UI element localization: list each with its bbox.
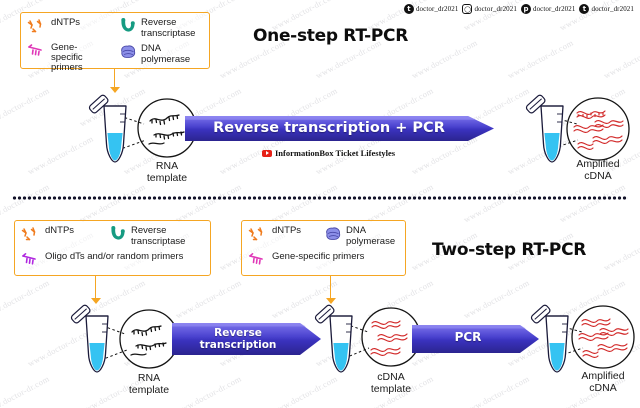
arrow-label-reverse-transcription: Reverse transcription [172, 327, 322, 351]
caption-line2: template [147, 172, 187, 184]
social-handle-label: doctor_dr2021 [474, 5, 517, 13]
watermark-text: www.doctor-dr.com [270, 181, 339, 224]
legend-label-dna-polymerase: DNA polymerase [346, 226, 395, 247]
legend-label-reverse-transcriptase: Reverse transcriptase [141, 18, 195, 39]
arrow-reverse-transcription: Reverse transcription [172, 320, 322, 358]
tube-cdna-template [312, 302, 366, 381]
legend-label-dna-polymerase: DNA polymerase [141, 44, 190, 65]
caption-rna-template-bottom: RNA template [113, 372, 185, 396]
gsp-line3: primers [51, 62, 83, 73]
arrow-label-pcr: PCR [412, 330, 540, 344]
social-handles-bar: t doctor_dr2021 ◯ doctor_dr2021 p doctor… [404, 4, 634, 14]
caption-rna-template-top: RNA template [131, 160, 203, 184]
watermark-text: www.doctor-dr.com [506, 37, 575, 80]
watermark-text: www.doctor-dr.com [26, 133, 95, 176]
pol-line1: DNA [346, 225, 366, 236]
rt-line2: transcriptase [131, 236, 185, 247]
page-title-two-step: Two-step RT-PCR [432, 240, 586, 260]
youtube-credit[interactable]: InformationBox Ticket Lifestyles [262, 148, 395, 158]
tube-rna-template-bottom [68, 302, 122, 381]
watermark-text: www.doctor-dr.com [0, 85, 51, 128]
pol-line2: polymerase [346, 236, 395, 247]
arrow-line1: Reverse [214, 327, 262, 339]
caption-line1: RNA [138, 372, 160, 384]
reverse-transcriptase-icon [109, 226, 127, 247]
telegram-icon: t [579, 4, 589, 14]
watermark-text: www.doctor-dr.com [462, 277, 531, 320]
arrow-reverse-transcription-pcr: Reverse transcription + PCR [185, 112, 495, 145]
legend-label-gene-specific-primers: Gene- specific primers [51, 43, 83, 73]
legend-label-dntps: dNTPs [272, 226, 301, 237]
watermark-text: www.doctor-dr.com [0, 181, 51, 224]
rt-line1: Reverse [131, 225, 166, 236]
diagram-canvas: www.doctor-dr.comwww.doctor-dr.comwww.do… [0, 0, 640, 408]
legend-label-gene-specific-primers: Gene-specific primers [272, 252, 364, 263]
legend-label-dntps: dNTPs [51, 18, 80, 29]
caption-cdna-template: cDNA template [353, 371, 429, 395]
caption-line1: RNA [156, 160, 178, 172]
watermark-text: www.doctor-dr.com [602, 229, 640, 272]
legend-two-step-rt: dNTPs Reverse transcriptase [14, 220, 211, 276]
caption-line1: cDNA [377, 371, 404, 383]
dna-polymerase-icon [119, 44, 137, 65]
watermark-text: www.doctor-dr.com [462, 181, 531, 224]
legend-two-step-pcr: dNTPs DNA polymerase [241, 220, 406, 276]
watermark-text: www.doctor-dr.com [462, 373, 531, 408]
watermark-text: www.doctor-dr.com [0, 277, 51, 320]
caption-line2: template [129, 384, 169, 396]
reverse-transcriptase-icon [119, 18, 137, 39]
dna-polymerase-icon [324, 226, 342, 247]
youtube-icon [262, 150, 272, 157]
legend-label-reverse-transcriptase: Reverse transcriptase [131, 226, 185, 247]
social-handle-pinterest[interactable]: p doctor_dr2021 [521, 4, 576, 14]
pol-line1: DNA [141, 43, 161, 54]
watermark-text: www.doctor-dr.com [366, 181, 435, 224]
twitter-icon: t [404, 4, 414, 14]
oligo-dt-primers-icon [21, 252, 41, 270]
social-handle-instagram[interactable]: ◯ doctor_dr2021 [462, 4, 517, 14]
watermark-text: www.doctor-dr.com [174, 181, 243, 224]
rt-line1: Reverse [141, 17, 176, 28]
gene-specific-primers-icon [27, 43, 47, 62]
caption-line1: Amplified [581, 370, 624, 382]
caption-line2: cDNA [589, 382, 616, 394]
dntps-icon [248, 226, 268, 247]
youtube-channel-label: InformationBox Ticket Lifestyles [275, 148, 395, 158]
arrow-label-reverse-transcription-pcr: Reverse transcription + PCR [185, 120, 495, 136]
caption-amplified-cdna-bottom: Amplified cDNA [562, 370, 640, 394]
page-title-one-step: One-step RT-PCR [253, 26, 408, 46]
social-handle-label: doctor_dr2021 [416, 5, 459, 13]
watermark-text: www.doctor-dr.com [558, 181, 627, 224]
watermark-text: www.doctor-dr.com [78, 181, 147, 224]
watermark-text: www.doctor-dr.com [602, 37, 640, 80]
social-handle-twitter[interactable]: t doctor_dr2021 [404, 4, 459, 14]
legend-connector-stem-two-b [330, 276, 331, 300]
watermark-text: www.doctor-dr.com [410, 37, 479, 80]
social-handle-telegram[interactable]: t doctor_dr2021 [579, 4, 634, 14]
caption-line2: cDNA [584, 170, 611, 182]
watermark-text: www.doctor-dr.com [0, 373, 51, 408]
arrow-pcr: PCR [412, 322, 540, 356]
gene-specific-primers-icon [248, 252, 268, 270]
social-handle-label: doctor_dr2021 [533, 5, 576, 13]
arrow-line2: transcription [200, 339, 277, 351]
rt-line2: transcriptase [141, 28, 195, 39]
social-handle-label: doctor_dr2021 [591, 5, 634, 13]
dntps-icon [27, 18, 47, 39]
caption-line2: template [371, 383, 411, 395]
legend-label-dntps: dNTPs [45, 226, 74, 237]
section-divider [12, 196, 628, 200]
watermark-text: www.doctor-dr.com [174, 277, 243, 320]
legend-label-oligo-dt-primers: Oligo dTs and/or random primers [45, 252, 183, 263]
dntps-icon [21, 226, 41, 247]
instagram-icon: ◯ [462, 4, 472, 14]
caption-line1: Amplified [576, 158, 619, 170]
caption-amplified-cdna-top: Amplified cDNA [557, 158, 639, 182]
pol-line2: polymerase [141, 54, 190, 65]
legend-connector-stem-two-a [95, 276, 96, 300]
legend-one-step: dNTPs Gene- specif [20, 12, 210, 69]
pinterest-icon: p [521, 4, 531, 14]
